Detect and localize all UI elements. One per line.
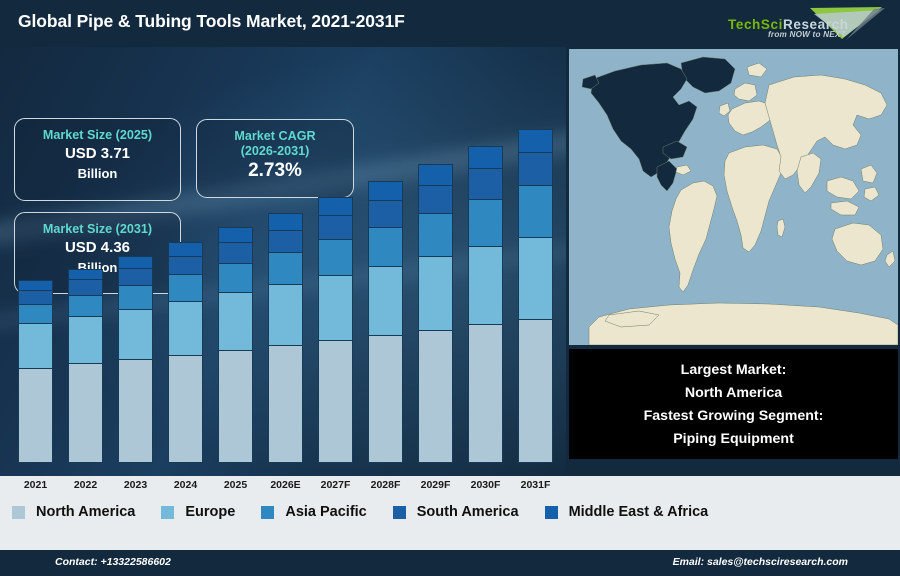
bar-segment-asia-pacific [118, 285, 153, 309]
bar-segment-south-america [68, 279, 103, 295]
bar-2024 [168, 242, 203, 463]
header-bar: Global Pipe & Tubing Tools Market, 2021-… [0, 0, 900, 47]
bar-2028F [368, 181, 403, 463]
bar-segment-south-america [168, 256, 203, 275]
bar-segment-north-america [318, 340, 353, 463]
bar-segment-europe [318, 275, 353, 340]
largest-market-label: Largest Market: [569, 359, 898, 381]
bar-segment-europe [518, 237, 553, 319]
bar-segment-asia-pacific [218, 263, 253, 292]
footer-bar: Contact: +13322586602 Email: sales@techs… [0, 550, 900, 576]
legend-swatch-icon [12, 506, 25, 519]
page-title: Global Pipe & Tubing Tools Market, 2021-… [18, 11, 405, 32]
legend-swatch-icon [261, 506, 274, 519]
legend-label: Middle East & Africa [569, 504, 709, 520]
bar-segment-asia-pacific [368, 227, 403, 266]
bar-segment-europe [268, 284, 303, 345]
bar-segment-europe [68, 316, 103, 363]
bar-segment-europe [468, 246, 503, 323]
legend-item-south-america[interactable]: South America [393, 504, 519, 520]
bar-2029F [418, 164, 453, 463]
bar-segment-south-america [518, 152, 553, 185]
legend-label: North America [36, 504, 135, 520]
bar-segment-north-america [518, 319, 553, 463]
bar-segment-europe [418, 256, 453, 329]
bar-segment-north-america [418, 330, 453, 463]
axis-tick-2022: 2022 [60, 479, 112, 491]
world-map-svg [569, 49, 898, 345]
bar-segment-middle-east-africa [68, 269, 103, 280]
bar-segment-asia-pacific [468, 199, 503, 246]
bar-segment-europe [368, 266, 403, 335]
chart-panel: Market Size (2025) USD 3.71 Billion Mark… [0, 47, 566, 476]
axis-tick-2030F: 2030F [460, 479, 512, 491]
axis-tick-2027F: 2027F [310, 479, 362, 491]
bar-segment-north-america [168, 355, 203, 463]
right-panel: Largest Market: North America Fastest Gr… [566, 47, 900, 476]
bar-segment-south-america [368, 200, 403, 227]
bar-segment-europe [168, 301, 203, 355]
world-map [569, 49, 898, 345]
axis-tick-2023: 2023 [110, 479, 162, 491]
legend-label: South America [417, 504, 519, 520]
bar-2022 [68, 269, 103, 463]
bar-segment-south-america [418, 185, 453, 214]
bar-segment-south-america [118, 268, 153, 285]
bar-segment-north-america [18, 368, 53, 463]
bar-segment-europe [118, 309, 153, 359]
bar-2025 [218, 227, 253, 463]
axis-tick-2021: 2021 [10, 479, 62, 491]
bar-2026E [268, 213, 303, 463]
bar-segment-asia-pacific [68, 295, 103, 316]
techsci-research-logo: TechSciResearch from NOW to NEXT [722, 3, 892, 45]
bar-segment-asia-pacific [318, 239, 353, 275]
axis-tick-2026E: 2026E [260, 479, 312, 491]
axis-tick-2029F: 2029F [410, 479, 462, 491]
bar-segment-middle-east-africa [368, 181, 403, 200]
bar-segment-middle-east-africa [118, 256, 153, 268]
stacked-bar-chart [0, 47, 566, 476]
bar-segment-asia-pacific [168, 274, 203, 301]
fastest-growing-segment-label: Fastest Growing Segment: [569, 405, 898, 427]
bar-segment-north-america [368, 335, 403, 463]
bar-segment-middle-east-africa [168, 242, 203, 256]
bar-2021 [18, 280, 53, 463]
legend-item-middle-east-africa[interactable]: Middle East & Africa [545, 504, 709, 520]
axis-tick-2028F: 2028F [360, 479, 412, 491]
footer-contact: Contact: +13322586602 [55, 556, 171, 568]
bar-segment-south-america [18, 290, 53, 304]
bar-2030F [468, 146, 503, 463]
legend-swatch-icon [161, 506, 174, 519]
legend-label: Asia Pacific [285, 504, 366, 520]
key-insights-box: Largest Market: North America Fastest Gr… [569, 349, 898, 459]
bar-segment-middle-east-africa [18, 280, 53, 290]
bar-segment-south-america [468, 168, 503, 199]
bar-segment-middle-east-africa [318, 197, 353, 215]
bar-segment-middle-east-africa [468, 146, 503, 168]
infographic-root: Global Pipe & Tubing Tools Market, 2021-… [0, 0, 900, 576]
bar-2027F [318, 197, 353, 463]
bar-segment-asia-pacific [518, 185, 553, 237]
legend-item-north-america[interactable]: North America [12, 504, 135, 520]
bar-2023 [118, 256, 153, 463]
bar-segment-north-america [468, 324, 503, 463]
legend-item-europe[interactable]: Europe [161, 504, 235, 520]
bar-segment-north-america [218, 350, 253, 463]
bar-segment-asia-pacific [18, 304, 53, 323]
logo-tagline: from NOW to NEXT [768, 30, 846, 39]
largest-market-value: North America [569, 382, 898, 404]
bar-segment-north-america [118, 359, 153, 463]
fastest-growing-segment-value: Piping Equipment [569, 428, 898, 450]
bar-segment-south-america [318, 215, 353, 239]
bar-segment-south-america [268, 230, 303, 252]
chart-legend: North AmericaEuropeAsia PacificSouth Ame… [0, 494, 900, 530]
bar-segment-north-america [68, 363, 103, 463]
bar-segment-europe [218, 292, 253, 349]
bar-segment-north-america [268, 345, 303, 463]
bar-segment-middle-east-africa [418, 164, 453, 185]
axis-tick-2024: 2024 [160, 479, 212, 491]
legend-item-asia-pacific[interactable]: Asia Pacific [261, 504, 366, 520]
bar-segment-middle-east-africa [218, 227, 253, 242]
axis-tick-2031F: 2031F [510, 479, 562, 491]
bar-segment-south-america [218, 242, 253, 263]
legend-label: Europe [185, 504, 235, 520]
bar-segment-asia-pacific [418, 213, 453, 256]
axis-tick-2025: 2025 [210, 479, 262, 491]
bar-segment-europe [18, 323, 53, 367]
bar-segment-middle-east-africa [268, 213, 303, 230]
bar-2031F [518, 129, 553, 463]
bar-segment-middle-east-africa [518, 129, 553, 153]
legend-swatch-icon [545, 506, 558, 519]
footer-email: Email: sales@techsciresearch.com [673, 556, 848, 568]
bar-segment-asia-pacific [268, 252, 303, 284]
legend-swatch-icon [393, 506, 406, 519]
